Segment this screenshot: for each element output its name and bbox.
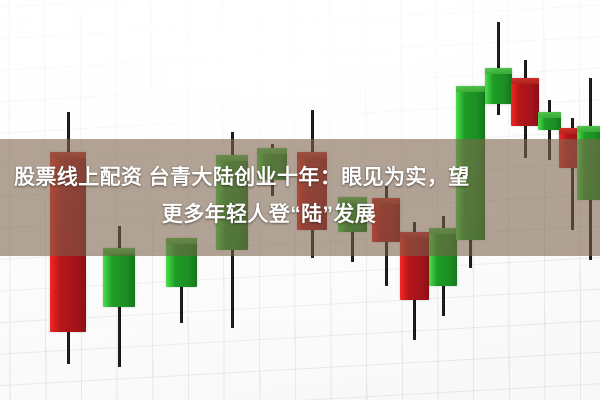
candle-body-top-face: [456, 86, 485, 92]
candle-body-top-face: [485, 68, 512, 74]
candle-body-bullish: [103, 248, 135, 307]
candle-body-bearish: [511, 78, 539, 126]
candle-body-bullish: [538, 112, 561, 130]
candle-body-top-face: [577, 126, 600, 132]
headline-line-1: 股票线上配资 台青大陆创业十年：眼见为实，望: [0, 159, 600, 196]
candle-body-top-face: [538, 112, 561, 118]
candle-body-top-face: [511, 78, 539, 84]
headline-line-2: 更多年轻人登“陆”发展: [0, 196, 600, 233]
candle-body-bullish: [485, 68, 512, 104]
candlestick-banner-image: 股票线上配资 台青大陆创业十年：眼见为实，望 更多年轻人登“陆”发展: [0, 0, 600, 400]
headline-text: 股票线上配资 台青大陆创业十年：眼见为实，望 更多年轻人登“陆”发展: [0, 159, 600, 233]
